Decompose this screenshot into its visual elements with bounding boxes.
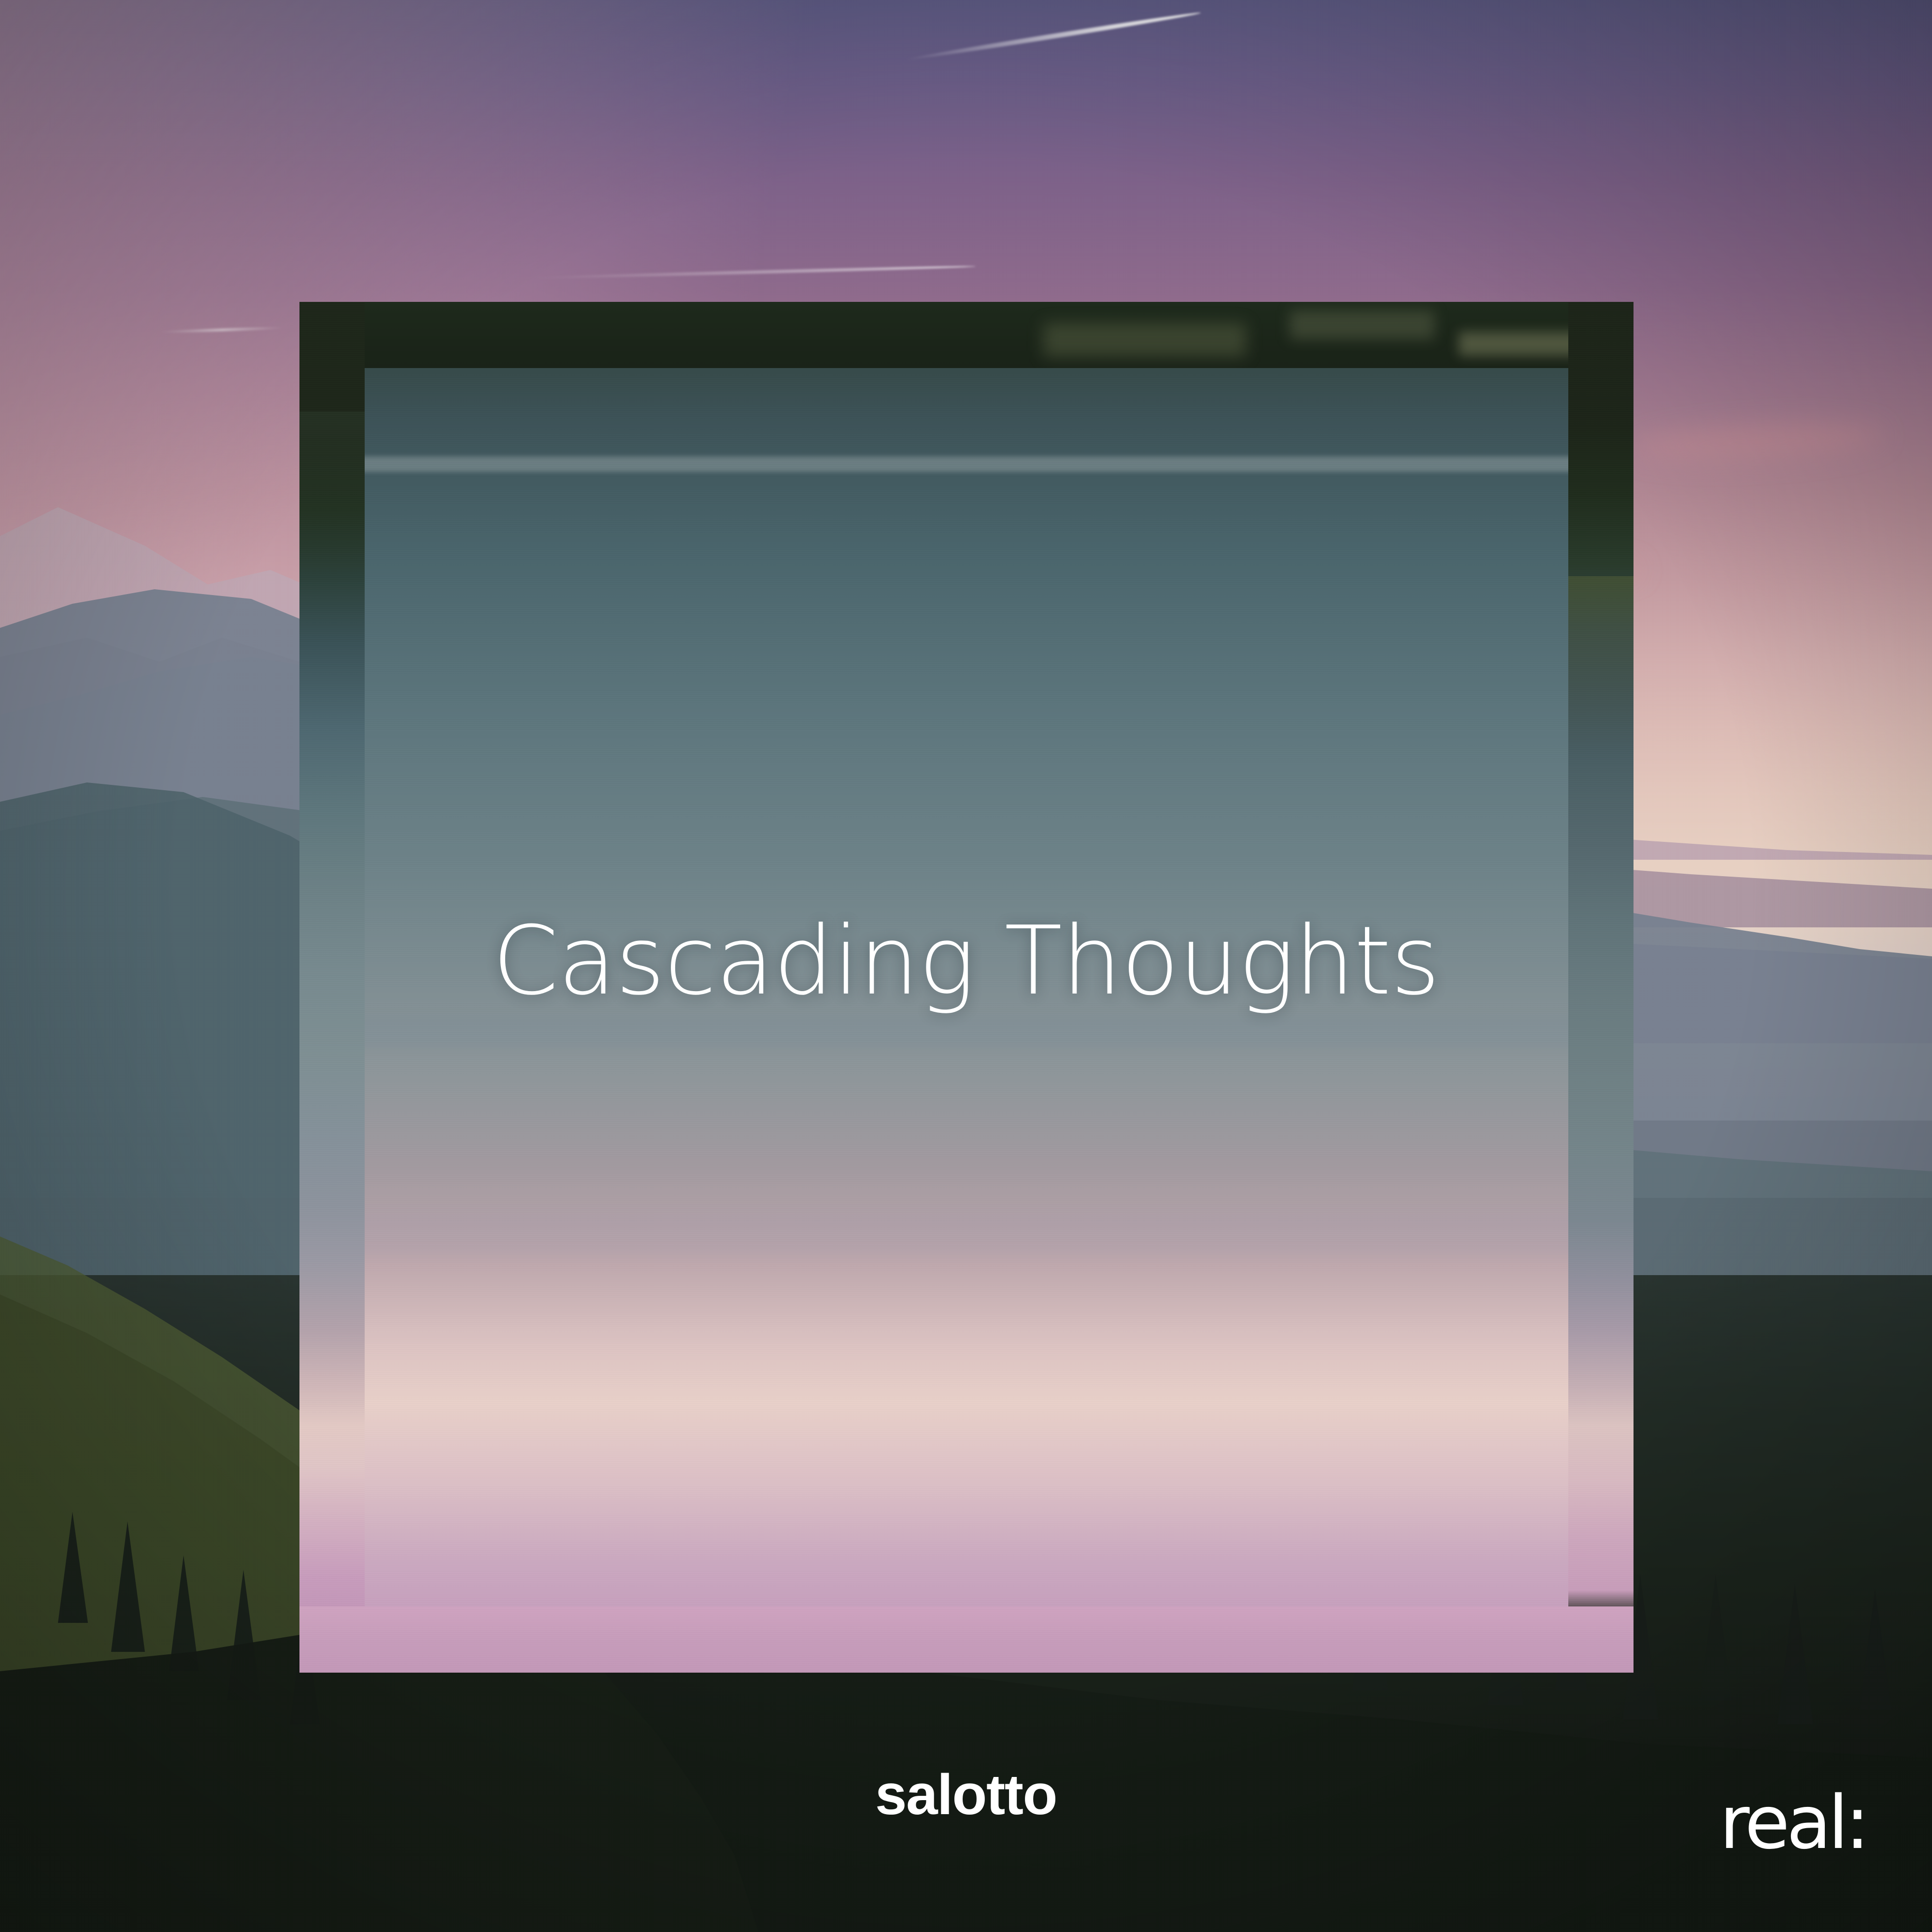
frame-band-bottom <box>299 1606 1634 1673</box>
frame-band-top <box>299 302 1634 368</box>
record-label-logo: real: <box>1719 1786 1866 1860</box>
album-title: Cascading Thoughts <box>0 912 1932 1011</box>
artist-name: salotto <box>0 1762 1932 1828</box>
album-cover-canvas: Cascading Thoughts salotto real: <box>0 0 1932 1932</box>
